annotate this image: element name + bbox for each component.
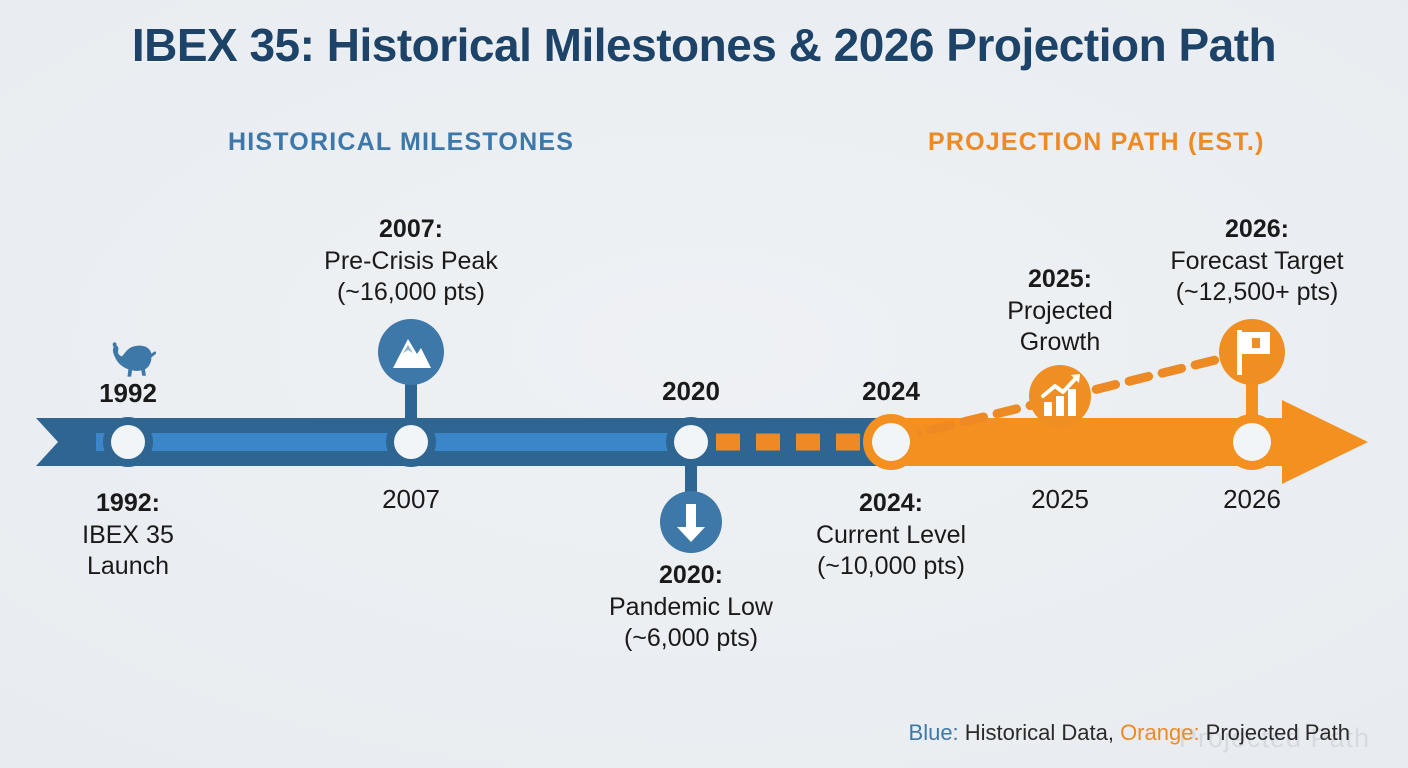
milestone-callout-2024: 2024: Current Level (~10,000 pts) xyxy=(771,488,1011,583)
milestone-1992-headline: 1992: xyxy=(28,488,228,520)
timeline-node-2020[interactable] xyxy=(666,417,716,467)
milestone-2007-line2: (~16,000 pts) xyxy=(291,277,531,309)
flag-icon[interactable] xyxy=(1219,319,1285,385)
legend-blue-text: Historical Data, xyxy=(959,720,1120,745)
milestone-1992-line1: IBEX 35 xyxy=(28,520,228,552)
milestone-2026-headline: 2026: xyxy=(1142,214,1372,246)
timeline-node-2024[interactable] xyxy=(863,414,919,470)
milestone-2020-line1: Pandemic Low xyxy=(571,592,811,624)
arrow-down-icon[interactable] xyxy=(660,491,722,553)
tick-label-2026: 2026 xyxy=(1202,484,1302,515)
milestone-2024-line2: (~10,000 pts) xyxy=(771,551,1011,583)
milestone-2024-headline: 2024: xyxy=(771,488,1011,520)
milestone-2026-line1: Forecast Target xyxy=(1142,246,1372,278)
timeline-bar-projection xyxy=(880,400,1368,484)
bull-icon xyxy=(113,342,156,376)
timeline-node-2026[interactable] xyxy=(1224,414,1280,470)
legend-orange-key: Orange: xyxy=(1120,720,1200,745)
tick-label-2024: 2024 xyxy=(841,376,941,407)
milestone-2024-line1: Current Level xyxy=(771,520,1011,552)
milestone-2007-headline: 2007: xyxy=(291,214,531,246)
tick-label-2020: 2020 xyxy=(641,376,741,407)
milestone-2025-line1: Projected xyxy=(960,296,1160,328)
tick-label-2025: 2025 xyxy=(1010,484,1110,515)
milestone-2020-line2: (~6,000 pts) xyxy=(571,623,811,655)
timeline-node-2007[interactable] xyxy=(386,417,436,467)
milestone-callout-1992: 1992: IBEX 35 Launch xyxy=(28,488,228,583)
legend: Blue: Historical Data, Orange: Projected… xyxy=(909,720,1350,746)
tick-label-1992: 1992 xyxy=(78,378,178,409)
legend-blue-key: Blue: xyxy=(909,720,959,745)
milestone-2025-headline: 2025: xyxy=(960,264,1160,296)
milestone-callout-2026: 2026: Forecast Target (~12,500+ pts) xyxy=(1142,214,1372,309)
timeline-node-1992[interactable] xyxy=(103,417,153,467)
timeline-left-tail xyxy=(36,418,96,466)
mountain-peak-icon[interactable] xyxy=(378,319,444,385)
milestone-2025-line2: Growth xyxy=(960,327,1160,359)
tick-label-2007: 2007 xyxy=(361,484,461,515)
growth-chart-icon[interactable] xyxy=(1029,365,1091,427)
milestone-1992-line2: Launch xyxy=(28,551,228,583)
milestone-2007-line1: Pre-Crisis Peak xyxy=(291,246,531,278)
milestone-callout-2007: 2007: Pre-Crisis Peak (~16,000 pts) xyxy=(291,214,531,309)
milestone-callout-2025: 2025: Projected Growth xyxy=(960,264,1160,359)
legend-orange-text: Projected Path xyxy=(1200,720,1350,745)
milestone-2026-line2: (~12,500+ pts) xyxy=(1142,277,1372,309)
